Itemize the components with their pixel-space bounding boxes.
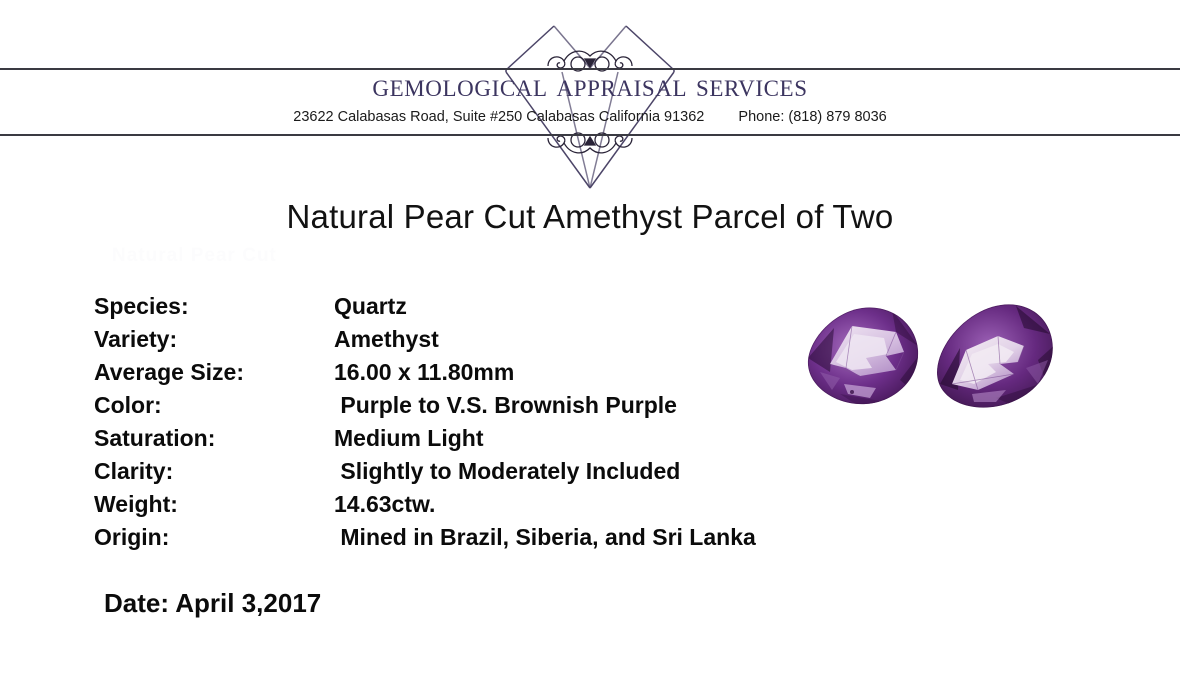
amethyst-stone-left (808, 307, 920, 408)
header-rule-bottom (0, 134, 1180, 136)
spec-row-species: Species: Quartz (94, 290, 884, 323)
spec-value: Medium Light (334, 422, 483, 455)
company-address: 23622 Calabasas Road, Suite #250 Calabas… (293, 109, 704, 125)
spec-label: Saturation: (94, 422, 215, 455)
spec-value: Slightly to Moderately Included (334, 455, 680, 488)
spec-row-color: Color: Purple to V.S. Brownish Purple (94, 389, 884, 422)
spec-row-variety: Variety: Amethyst (94, 323, 884, 356)
spec-row-saturation: Saturation: Medium Light (94, 422, 884, 455)
spec-row-clarity: Clarity: Slightly to Moderately Included (94, 455, 884, 488)
spec-value: Amethyst (334, 323, 439, 356)
company-header: Gemological Appraisal Services 23622 Cal… (0, 70, 1180, 125)
spec-value: Purple to V.S. Brownish Purple (334, 389, 677, 422)
ghost-text-artifact: Natural Pear Cut (112, 245, 277, 267)
spec-row-origin: Origin: Mined in Brazil, Siberia, and Sr… (94, 521, 884, 554)
spec-value: 16.00 x 11.80mm (334, 356, 514, 389)
company-phone: Phone: (818) 879 8036 (738, 109, 886, 125)
spec-value: 14.63ctw. (334, 488, 435, 521)
spec-value: Quartz (334, 290, 407, 323)
spec-label: Origin: (94, 521, 169, 554)
pear-cut-amethyst-pair-photo (800, 298, 1062, 416)
spec-label: Species: (94, 290, 189, 323)
amethyst-stone-right (937, 304, 1058, 407)
spec-label: Variety: (94, 323, 177, 356)
appraisal-date: Date: April 3,2017 (104, 588, 321, 619)
appraisal-certificate-page: Gemological Appraisal Services 23622 Cal… (0, 0, 1180, 673)
spec-row-average-size: Average Size: 16.00 x 11.80mm (94, 356, 884, 389)
page-title: Natural Pear Cut Amethyst Parcel of Two (0, 198, 1180, 236)
spec-label: Weight: (94, 488, 178, 521)
company-contact-row: 23622 Calabasas Road, Suite #250 Calabas… (0, 109, 1180, 125)
spec-label: Color: (94, 389, 162, 422)
spec-label: Average Size: (94, 356, 244, 389)
spec-value: Mined in Brazil, Siberia, and Sri Lanka (334, 521, 756, 554)
specification-list: Species: Quartz Variety: Amethyst Averag… (94, 290, 884, 554)
company-name: Gemological Appraisal Services (0, 70, 1180, 103)
spec-label: Clarity: (94, 455, 173, 488)
spec-row-weight: Weight: 14.63ctw. (94, 488, 884, 521)
